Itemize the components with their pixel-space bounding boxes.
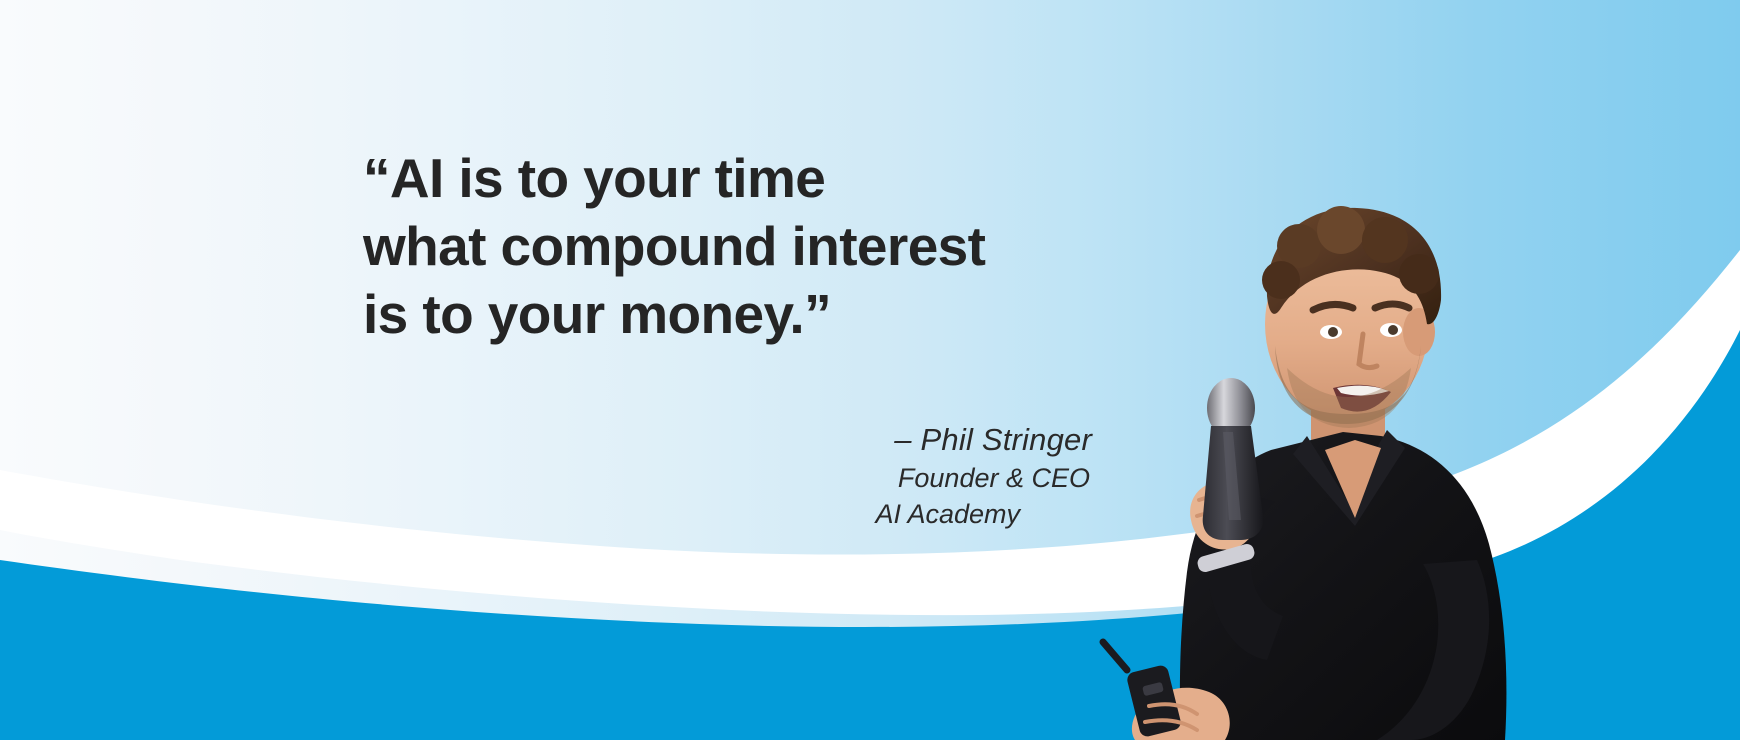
quote-slide: “AI is to your time what compound intere… xyxy=(0,0,1740,740)
decorative-waves xyxy=(0,0,1740,740)
quote-text: “AI is to your time what compound intere… xyxy=(363,144,1123,348)
attribution-role: Founder & CEO xyxy=(640,460,1092,496)
quote-line-3: is to your money.” xyxy=(363,280,1123,348)
attribution-organization: AI Academy xyxy=(640,496,1092,532)
attribution-block: – Phil Stringer Founder & CEO AI Academy xyxy=(640,420,1092,532)
quote-line-2: what compound interest xyxy=(363,212,1123,280)
quote-line-1: “AI is to your time xyxy=(363,144,1123,212)
attribution-name: – Phil Stringer xyxy=(640,420,1092,460)
